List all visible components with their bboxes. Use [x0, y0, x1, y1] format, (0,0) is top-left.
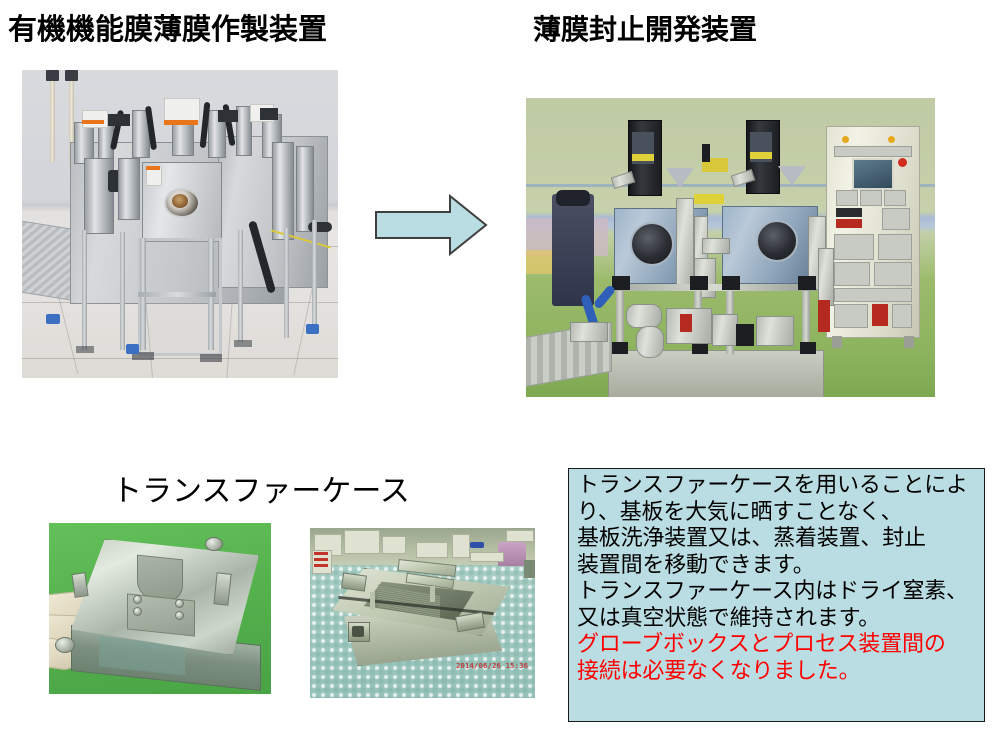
page-title-transfer-case: トランスファーケース — [112, 466, 410, 510]
callout-line-accent: グローブボックスとプロセス装置間の — [577, 632, 978, 659]
callout-textbox: トランスファーケースを用いることによ り、基板を大気に晒すことなく、 基板洗浄装… — [568, 468, 985, 722]
page-title-encapsulation: 薄膜封止開発装置 — [533, 8, 757, 48]
photo-timestamp: 2014/06/26 15:36 — [456, 662, 528, 670]
callout-line: トランスファーケースを用いることによ — [577, 473, 978, 500]
callout-line: 装置間を移動できます。 — [577, 553, 978, 580]
callout-line: 基板洗浄装置又は、蒸着装置、封止 — [577, 526, 978, 553]
photo-thin-film-encapsulation-system — [526, 98, 935, 397]
right-arrow-icon — [372, 190, 490, 260]
callout-line-accent: 接続は必要なくなりました。 — [577, 659, 978, 686]
callout-line: トランスファーケース内はドライ窒素、 — [577, 579, 978, 606]
slide-canvas: 有機機能膜薄膜作製装置 薄膜封止開発装置 トランスファーケース — [0, 0, 1001, 732]
photo-organic-film-deposition-system — [22, 70, 338, 378]
photo-transfer-case-open: 2014/06/26 15:36 — [310, 528, 535, 698]
callout-line: 又は真空状態で維持されます。 — [577, 606, 978, 633]
photo-transfer-case-in-hand — [49, 523, 271, 694]
page-title-deposition: 有機機能膜薄膜作製装置 — [8, 6, 327, 48]
callout-line: り、基板を大気に晒すことなく、 — [577, 500, 978, 527]
